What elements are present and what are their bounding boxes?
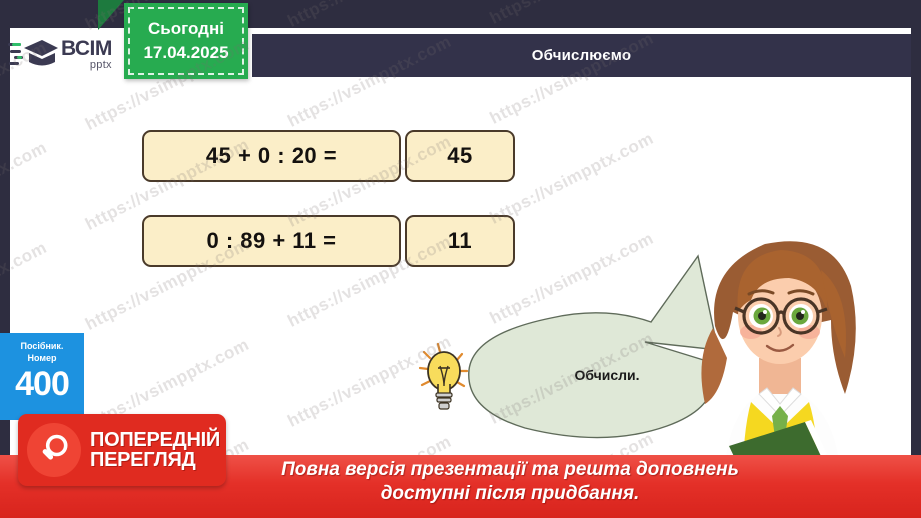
brand-logo-main: ВСІМ — [61, 38, 112, 59]
brand-logo-text: ВСІМ pptx — [61, 38, 112, 71]
equation-expression-box: 0 : 89 + 11 = — [142, 215, 401, 267]
equation-row: 45 + 0 : 20 = 45 — [142, 130, 515, 182]
graduation-cap-icon — [8, 36, 60, 72]
equation-answer: 11 — [448, 228, 472, 254]
equation-answer-box: 11 — [405, 215, 515, 267]
magnifier-icon — [27, 423, 81, 477]
equation-expression-box: 45 + 0 : 20 = — [142, 130, 401, 182]
header-bar: Обчислюємо — [252, 34, 911, 77]
magnifier-glyph — [36, 432, 72, 468]
equation-answer-box: 45 — [405, 130, 515, 182]
lightbulb-icon — [418, 338, 472, 414]
exercise-number-badge: Посібник. Номер 400 — [0, 333, 84, 420]
purchase-notice-text: Повна версія презентації та решта доповн… — [230, 458, 790, 507]
equation-row: 0 : 89 + 11 = 11 — [142, 215, 515, 267]
exercise-number-label-1: Посібник. — [21, 340, 64, 352]
preview-badge-line-1: ПОПЕРЕДНІЙ — [90, 430, 220, 450]
preview-badge-text: ПОПЕРЕДНІЙ ПЕРЕГЛЯД — [90, 430, 220, 471]
preview-badge[interactable]: ПОПЕРЕДНІЙ ПЕРЕГЛЯД — [18, 414, 226, 486]
ribbon-fold — [98, 0, 124, 30]
equation-answer: 45 — [447, 143, 472, 169]
brand-logo[interactable]: ВСІМ pptx — [8, 32, 124, 76]
brand-logo-sub: pptx — [61, 60, 112, 71]
date-badge-value: 17.04.2025 — [143, 43, 228, 63]
equation-expression: 0 : 89 + 11 = — [206, 228, 336, 254]
exercise-number-value: 400 — [15, 367, 69, 401]
presentation-slide: Обчислюємо ВСІМ pptx Сьогодні 17.04.2025… — [0, 0, 921, 518]
equation-expression: 45 + 0 : 20 = — [206, 143, 337, 169]
date-badge-label: Сьогодні — [148, 19, 224, 39]
page-title: Обчислюємо — [532, 47, 632, 64]
date-badge: Сьогодні 17.04.2025 — [124, 3, 248, 79]
purchase-notice-line-2: доступні після придбання. — [230, 482, 790, 506]
purchase-notice-line-1: Повна версія презентації та решта доповн… — [230, 458, 790, 482]
preview-badge-line-2: ПЕРЕГЛЯД — [90, 450, 220, 470]
exercise-number-label-2: Номер — [27, 352, 56, 364]
